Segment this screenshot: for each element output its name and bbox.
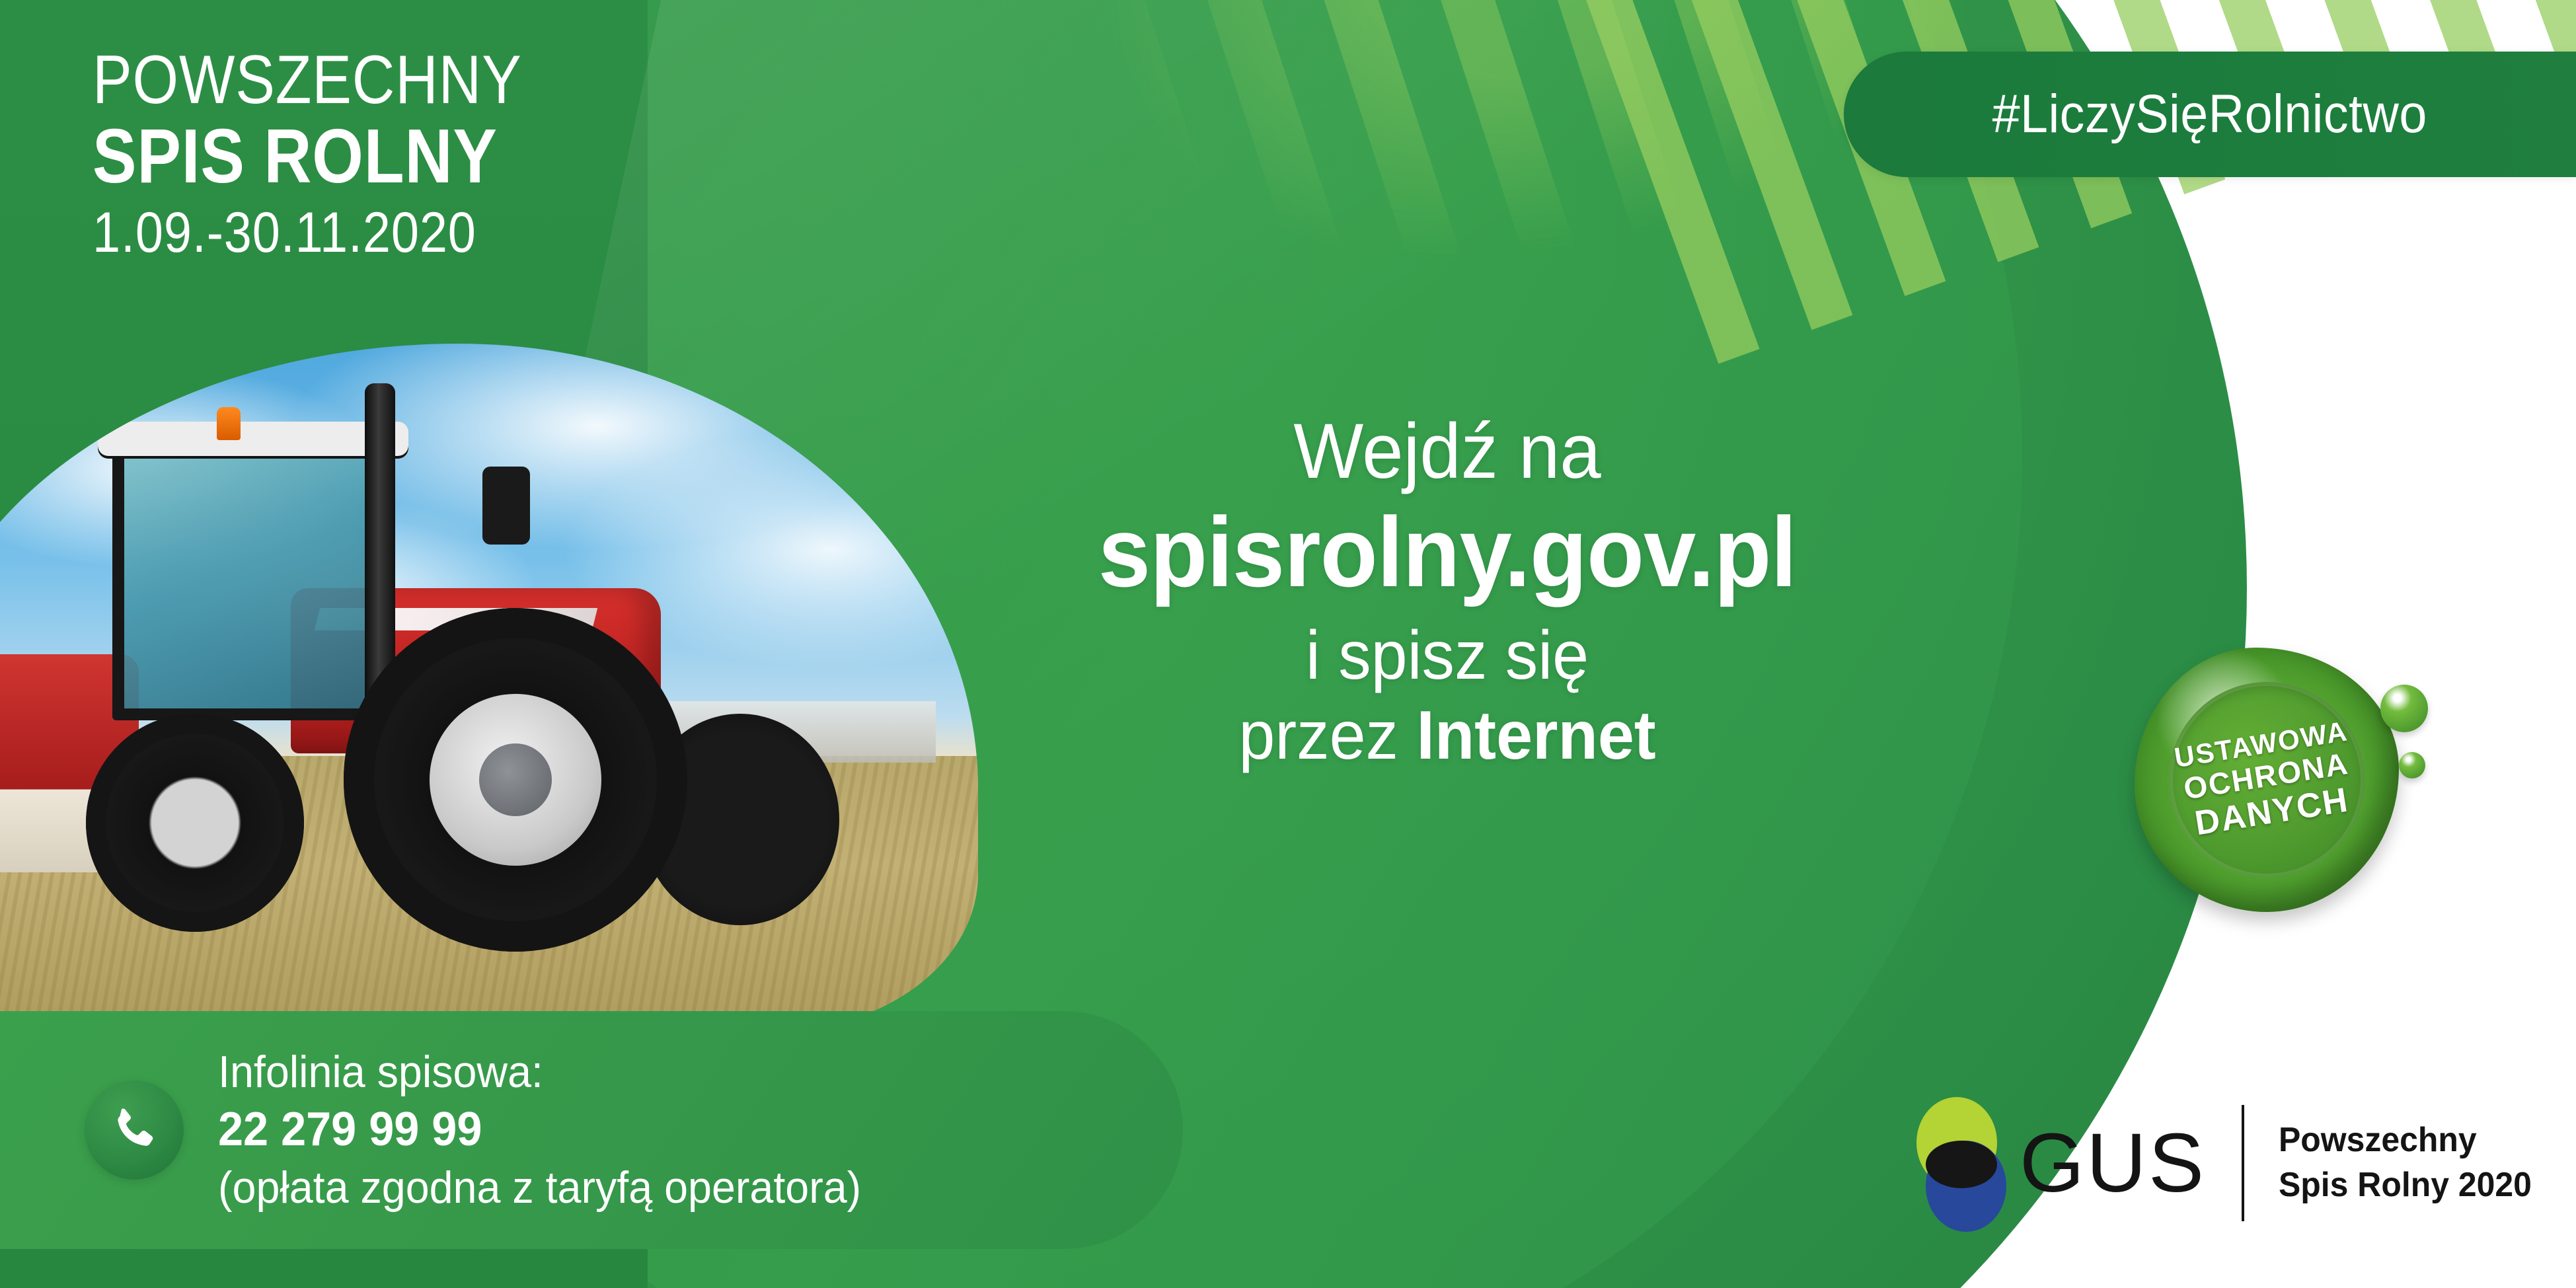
photo-tractor-hubcap xyxy=(479,743,552,816)
gus-subtitle-line-2: Spis Rolny 2020 xyxy=(2279,1163,2532,1208)
infoline-panel: Infolinia spisowa: 22 279 99 99 (opłata … xyxy=(0,1011,1183,1249)
photo-tractor-mirror xyxy=(482,467,530,545)
phone-icon xyxy=(85,1080,184,1180)
gus-ellipses-icon xyxy=(1916,1097,2008,1229)
gus-divider xyxy=(2242,1105,2244,1221)
headline-line-1: POWSZECHNY xyxy=(93,45,522,115)
data-protection-seal: USTAWOWA OCHRONA DANYCH xyxy=(2135,648,2419,932)
hashtag-label: #LiczySięRolnictwo xyxy=(1992,83,2427,145)
cta-line-4: przez Internet xyxy=(1002,697,1893,774)
photo-tractor-front-wheel xyxy=(86,714,304,932)
page-title: POWSZECHNY SPIS ROLNY 1.09.-30.11.2020 xyxy=(93,45,591,264)
infoline-phone-number[interactable]: 22 279 99 99 xyxy=(218,1101,861,1159)
cta-line-3: i spisz się xyxy=(1002,617,1893,694)
psr-2020-banner: POWSZECHNY SPIS ROLNY 1.09.-30.11.2020 #… xyxy=(0,0,2576,1288)
photo-tractor-cab xyxy=(112,443,390,720)
seal-wax-drop-large xyxy=(2380,685,2428,732)
headline-dates: 1.09.-30.11.2020 xyxy=(93,202,532,264)
gus-subtitle-line-1: Powszechny xyxy=(2279,1118,2532,1163)
cta-line-4-light: przez xyxy=(1238,697,1416,774)
cta-line-4-bold: Internet xyxy=(1416,697,1655,774)
gus-subtitle: Powszechny Spis Rolny 2020 xyxy=(2279,1118,2542,1207)
gus-logo: GUS Powszechny Spis Rolny 2020 xyxy=(1916,1097,2542,1229)
infoline-text: Infolinia spisowa: 22 279 99 99 (opłata … xyxy=(218,1045,895,1215)
headline-line-2: SPIS ROLNY xyxy=(93,116,522,196)
gus-ellipse-overlap xyxy=(1926,1141,1997,1188)
photo-tractor-beacon xyxy=(217,407,241,440)
cta-block: Wejdź na spisrolny.gov.pl i spisz się pr… xyxy=(978,410,1916,774)
hashtag-badge[interactable]: #LiczySięRolnictwo xyxy=(1844,52,2576,177)
tractor-photo xyxy=(0,344,978,1031)
infoline-note: (opłata zgodna z taryfą operatora) xyxy=(218,1160,861,1215)
seal-wax-drop-small xyxy=(2399,752,2425,778)
photo-tractor-roof xyxy=(98,422,408,456)
infoline-label: Infolinia spisowa: xyxy=(218,1045,861,1100)
cta-line-1: Wejdź na xyxy=(1002,410,1893,494)
gus-wordmark: GUS xyxy=(2020,1121,2206,1205)
cta-website-url[interactable]: spisrolny.gov.pl xyxy=(1002,498,1893,607)
